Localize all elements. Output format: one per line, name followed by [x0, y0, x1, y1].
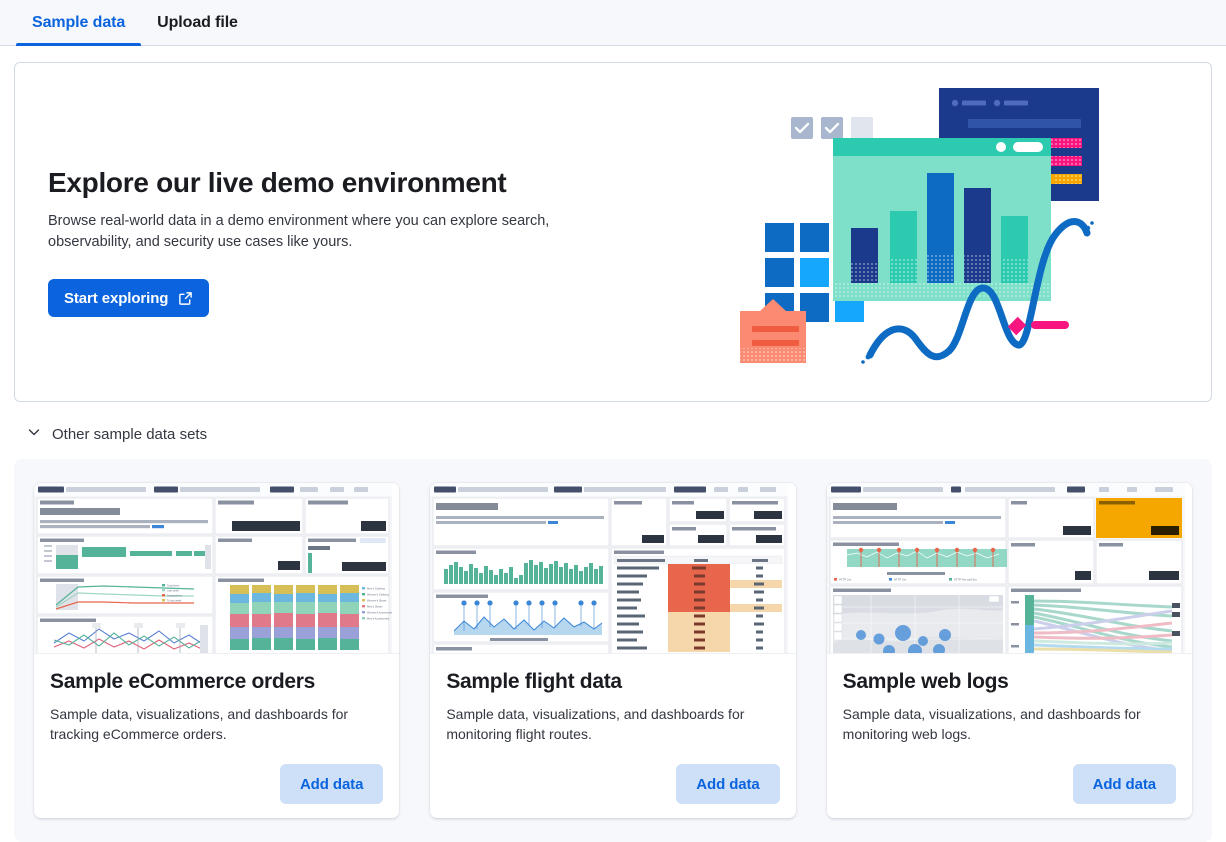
other-sample-data-sets-label: Other sample data sets — [52, 426, 207, 443]
card-actions: Add data — [843, 744, 1176, 804]
svg-text:Women's Accessories: Women's Accessories — [367, 611, 392, 615]
hero-description: Browse real-world data in a demo environ… — [48, 211, 568, 253]
svg-text:Last week: Last week — [167, 589, 179, 593]
card-title: Sample flight data — [446, 670, 779, 694]
start-exploring-label: Start exploring — [64, 290, 168, 307]
svg-text:Women's Shoes: Women's Shoes — [367, 599, 387, 603]
svg-text:Total items: Total items — [167, 584, 180, 588]
card-title: Sample web logs — [843, 670, 1176, 694]
svg-text:HTTP 3xx: HTTP 3xx — [894, 578, 907, 582]
svg-text:Men's Accessories: Men's Accessories — [367, 617, 390, 621]
card-description: Sample data, visualizations, and dashboa… — [446, 704, 746, 744]
start-exploring-button[interactable]: Start exploring — [48, 279, 209, 317]
card-title: Sample eCommerce orders — [50, 670, 383, 694]
svg-text:Men's Shoes: Men's Shoes — [367, 605, 383, 609]
svg-text:Transactions: Transactions — [167, 594, 182, 598]
illustration-chart-window — [833, 138, 1051, 301]
svg-text:Men's Clothing: Men's Clothing — [367, 587, 385, 591]
tab-upload-file[interactable]: Upload file — [141, 0, 254, 45]
add-data-button-flights[interactable]: Add data — [676, 764, 779, 804]
flights-card-body: Sample flight data Sample data, visualiz… — [430, 654, 795, 818]
weblogs-dashboard-thumbnail: HTTP 2xx HTTP 3xx HTTP 4xx and 5xx — [827, 483, 1192, 654]
svg-text:HTTP 2xx: HTTP 2xx — [839, 578, 852, 582]
card-description: Sample data, visualizations, and dashboa… — [843, 704, 1143, 744]
page-content: Explore our live demo environment Browse… — [0, 46, 1226, 842]
external-link-icon — [178, 291, 193, 306]
ecommerce-card-body: Sample eCommerce orders Sample data, vis… — [34, 654, 399, 818]
sample-data-card-ecommerce[interactable]: Total items Last week Transactions To la… — [34, 483, 399, 818]
tab-bar: Sample data Upload file — [0, 0, 1226, 46]
page-title: Explore our live demo environment — [48, 167, 593, 199]
weblogs-card-body: Sample web logs Sample data, visualizati… — [827, 654, 1192, 818]
sample-data-card-weblogs[interactable]: HTTP 2xx HTTP 3xx HTTP 4xx and 5xx — [827, 483, 1192, 818]
card-actions: Add data — [50, 744, 383, 804]
card-description: Sample data, visualizations, and dashboa… — [50, 704, 350, 744]
svg-text:To last week: To last week — [167, 599, 182, 603]
hero-text-block: Explore our live demo environment Browse… — [48, 167, 593, 317]
add-data-button-ecommerce[interactable]: Add data — [280, 764, 383, 804]
flights-dashboard-thumbnail — [430, 483, 795, 654]
demo-environment-panel: Explore our live demo environment Browse… — [14, 62, 1212, 402]
add-data-button-weblogs[interactable]: Add data — [1073, 764, 1176, 804]
tab-sample-data[interactable]: Sample data — [16, 0, 141, 45]
sample-data-sets-list: Total items Last week Transactions To la… — [14, 459, 1212, 842]
demo-environment-illustration — [735, 83, 1115, 383]
ecommerce-dashboard-thumbnail: Total items Last week Transactions To la… — [34, 483, 399, 654]
card-actions: Add data — [446, 744, 779, 804]
sample-data-card-flights[interactable]: Sample flight data Sample data, visualiz… — [430, 483, 795, 818]
other-sample-data-sets-toggle[interactable]: Other sample data sets — [26, 424, 207, 445]
tab-upload-file-label: Upload file — [157, 14, 238, 32]
svg-text:HTTP 4xx and 5xx: HTTP 4xx and 5xx — [954, 578, 978, 582]
tab-sample-data-label: Sample data — [32, 14, 125, 32]
svg-text:Women's Clothing: Women's Clothing — [367, 593, 389, 597]
chevron-down-icon — [26, 424, 42, 445]
illustration-checkboxes — [791, 117, 873, 139]
